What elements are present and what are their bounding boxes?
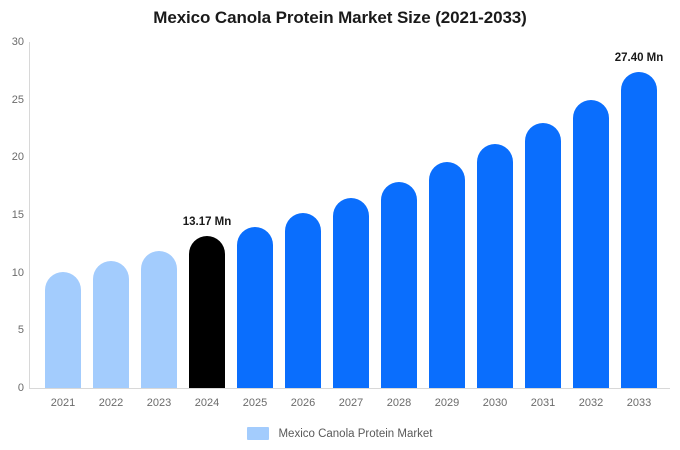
x-axis-tick-label: 2033 xyxy=(615,397,663,409)
x-axis-tick-label: 2026 xyxy=(279,397,327,409)
y-axis-tick-label: 0 xyxy=(0,382,24,394)
bar-value-label: 13.17 Mn xyxy=(183,216,232,228)
y-axis-tick-label: 15 xyxy=(0,209,24,221)
bar-slot xyxy=(87,42,135,388)
bar-2022[interactable] xyxy=(93,261,129,388)
x-axis-tick-label: 2032 xyxy=(567,397,615,409)
bar-slot xyxy=(567,42,615,388)
x-axis-tick-label: 2031 xyxy=(519,397,567,409)
x-axis-line xyxy=(29,388,670,389)
bar-slot: 13.17 Mn xyxy=(183,42,231,388)
chart-title: Mexico Canola Protein Market Size (2021-… xyxy=(0,8,680,28)
chart-container: Mexico Canola Protein Market Size (2021-… xyxy=(0,0,680,450)
legend-label: Mexico Canola Protein Market xyxy=(278,428,432,440)
y-axis-tick-label: 25 xyxy=(0,94,24,106)
bar-2023[interactable] xyxy=(141,251,177,388)
bar-2029[interactable] xyxy=(429,162,465,388)
x-axis-tick-label: 2025 xyxy=(231,397,279,409)
bar-slot xyxy=(231,42,279,388)
legend-item[interactable]: Mexico Canola Protein Market xyxy=(247,427,432,440)
bar-slot xyxy=(327,42,375,388)
plot-area: 13.17 Mn27.40 Mn xyxy=(29,42,670,388)
x-axis-tick-label: 2023 xyxy=(135,397,183,409)
bar-value-label: 27.40 Mn xyxy=(615,52,664,64)
x-axis-tick-label: 2028 xyxy=(375,397,423,409)
legend-color-swatch xyxy=(247,427,269,440)
x-axis-tick-label: 2030 xyxy=(471,397,519,409)
bar-slot xyxy=(519,42,567,388)
bar-2032[interactable] xyxy=(573,100,609,388)
bar-slot xyxy=(135,42,183,388)
bar-2033[interactable] xyxy=(621,72,657,388)
y-axis-tick-label: 5 xyxy=(0,324,24,336)
bar-2026[interactable] xyxy=(285,213,321,388)
bar-slot xyxy=(39,42,87,388)
bar-2030[interactable] xyxy=(477,144,513,389)
x-axis-tick-labels: 2021202220232024202520262027202820292030… xyxy=(29,397,670,413)
x-axis-tick-label: 2024 xyxy=(183,397,231,409)
x-axis-tick-label: 2027 xyxy=(327,397,375,409)
bar-2028[interactable] xyxy=(381,182,417,388)
bar-2024[interactable] xyxy=(189,236,225,388)
x-axis-tick-label: 2021 xyxy=(39,397,87,409)
x-axis-tick-label: 2022 xyxy=(87,397,135,409)
bar-slot xyxy=(471,42,519,388)
bar-slot xyxy=(279,42,327,388)
y-axis-tick-label: 20 xyxy=(0,151,24,163)
bar-2025[interactable] xyxy=(237,227,273,388)
bar-2027[interactable] xyxy=(333,198,369,388)
bar-2021[interactable] xyxy=(45,272,81,388)
bar-slot xyxy=(423,42,471,388)
bar-2031[interactable] xyxy=(525,123,561,388)
bar-series: 13.17 Mn27.40 Mn xyxy=(29,42,670,388)
bar-slot: 27.40 Mn xyxy=(615,42,663,388)
x-axis-tick-label: 2029 xyxy=(423,397,471,409)
y-axis-tick-label: 30 xyxy=(0,36,24,48)
y-axis-tick-label: 10 xyxy=(0,267,24,279)
y-axis-tick-labels: 051015202530 xyxy=(0,42,24,388)
bar-slot xyxy=(375,42,423,388)
chart-legend: Mexico Canola Protein Market xyxy=(0,427,680,440)
